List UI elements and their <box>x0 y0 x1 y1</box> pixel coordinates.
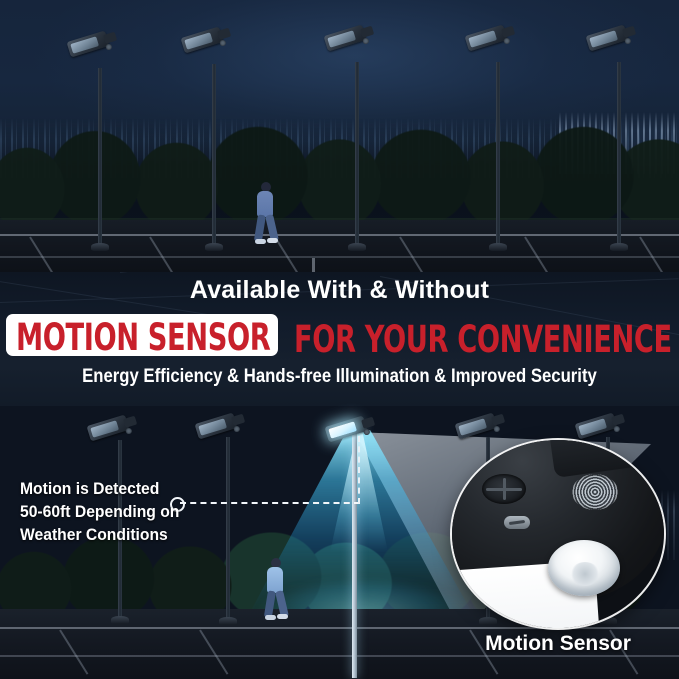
callout-line-3: Weather Conditions <box>20 524 179 547</box>
pole-base <box>91 243 109 251</box>
light-pole <box>212 64 216 250</box>
light-pole <box>355 62 359 250</box>
callout-line-1: Motion is Detected <box>20 478 179 501</box>
pole-base <box>489 243 507 251</box>
callout-line-2: 50-60ft Depending on <box>20 501 179 524</box>
pole-base <box>348 243 366 251</box>
pedestrian-shoe <box>267 238 278 243</box>
pole-base <box>219 617 237 625</box>
headline-highlight-text: MOTION SENSOR <box>16 316 270 359</box>
light-pole <box>98 68 102 250</box>
pole-base <box>111 616 129 624</box>
light-pole <box>617 62 621 250</box>
callout-dashed-line-vertical <box>358 436 360 504</box>
light-pole <box>226 437 230 623</box>
pedestrian-shoe <box>255 239 266 244</box>
pedestrian-torso <box>257 191 273 217</box>
scene-lights-off <box>0 0 679 272</box>
product-feature-graphic: Available With & Without MOTION SENSOR F… <box>0 0 679 679</box>
headline-subline: Energy Efficiency & Hands-free Illuminat… <box>0 366 679 388</box>
pedestrian-torso <box>267 567 283 593</box>
pedestrian-detected <box>262 558 288 620</box>
photocell-vent-icon <box>572 474 618 510</box>
headline-subline-text: Energy Efficiency & Hands-free Illuminat… <box>82 366 597 388</box>
pir-dome-icon <box>548 540 620 596</box>
pole-base <box>610 243 628 251</box>
pedestrian-shoe <box>277 614 288 619</box>
pedestrian-shoe <box>265 615 276 620</box>
headline-line-1: Available With & Without <box>0 276 679 305</box>
motion-sensor-closeup-inset <box>452 440 664 628</box>
headline-line-2: MOTION SENSOR FOR YOUR CONVENIENCE <box>0 312 679 358</box>
detection-range-callout: Motion is Detected 50-60ft Depending on … <box>20 478 188 547</box>
inset-label: Motion Sensor <box>452 632 664 656</box>
light-pole <box>496 62 500 250</box>
pole-base <box>205 243 223 251</box>
headline-rest-text: FOR YOUR CONVENIENCE <box>294 318 672 361</box>
callout-dashed-line-horizontal <box>180 502 360 504</box>
pedestrian <box>252 182 278 244</box>
light-pole-activated <box>352 432 357 678</box>
slotted-screw-icon <box>504 516 530 529</box>
adjust-knob-icon <box>482 474 526 504</box>
